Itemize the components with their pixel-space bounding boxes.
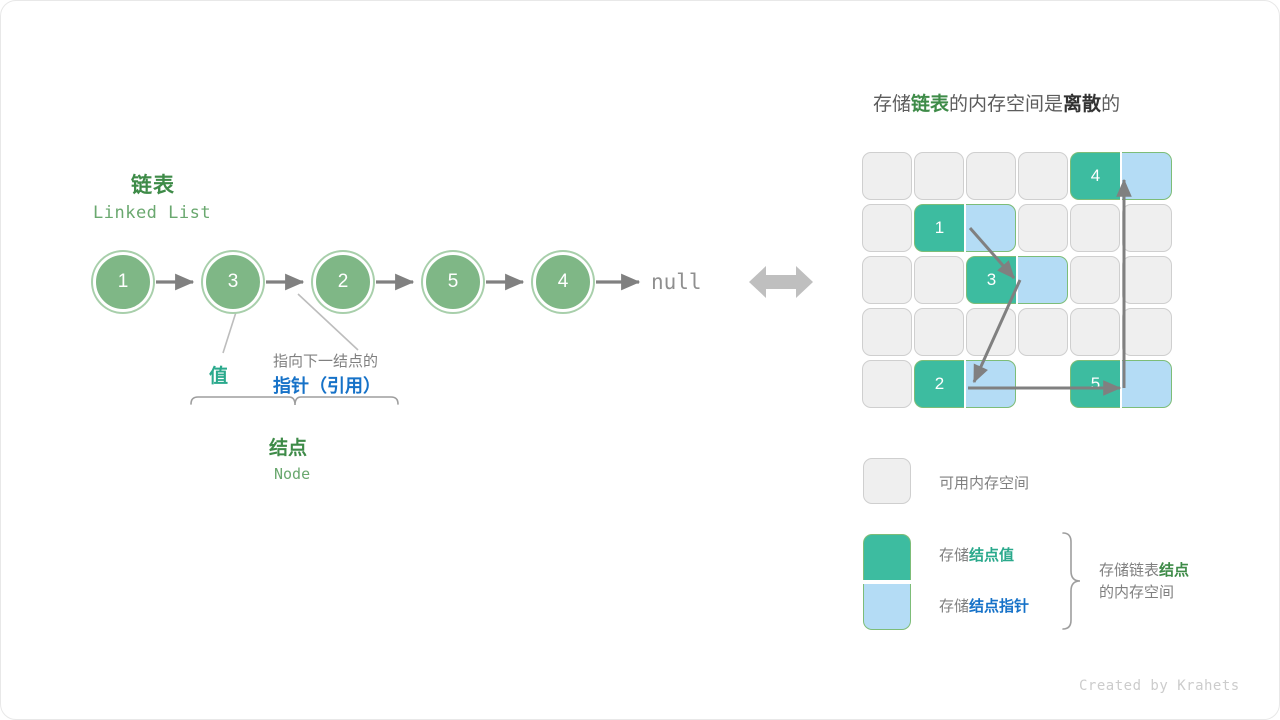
memory-grid: 4 1 3 2 5 (862, 152, 1176, 412)
list-node-1: 3 (203, 252, 263, 312)
pointer-annotation-line2: 指针（引用） (273, 372, 381, 398)
list-node-4-value: 4 (558, 271, 569, 293)
memory-title: 存储链表的内存空间是离散的 (873, 89, 1120, 116)
legend-value-swatch (863, 534, 911, 580)
legend-pointer-prefix: 存储 (939, 598, 969, 615)
legend-brace-line2: 的内存空间 (1099, 581, 1174, 602)
node-annotation-cn: 结点 (269, 433, 307, 460)
list-node-3: 5 (423, 252, 483, 312)
legend-brace-prefix: 存储链表 (1099, 562, 1159, 579)
legend-pointer-label: 存储结点指针 (939, 595, 1029, 616)
watermark: Created by Krahets (1079, 678, 1240, 694)
memory-title-highlight-discrete: 离散 (1063, 94, 1101, 115)
memory-title-part1: 存储 (873, 94, 911, 115)
legend-free-label: 可用内存空间 (939, 472, 1029, 493)
pointer-annotation-line1: 指向下一结点的 (273, 350, 378, 371)
list-node-2: 2 (313, 252, 373, 312)
legend-value-label: 存储结点值 (939, 544, 1014, 565)
memory-title-part3: 的 (1101, 94, 1120, 115)
list-node-0-value: 1 (118, 271, 129, 293)
memory-title-part2: 的内存空间是 (949, 94, 1063, 115)
node-annotation-en: Node (274, 465, 310, 483)
legend-brace-strong: 结点 (1159, 562, 1189, 579)
list-node-4: 4 (533, 252, 593, 312)
legend-pointer-swatch (863, 584, 911, 630)
legend-free-swatch (863, 458, 911, 504)
list-node-0: 1 (93, 252, 153, 312)
null-terminator: null (651, 270, 702, 294)
memory-title-highlight-linkedlist: 链表 (911, 94, 949, 115)
list-node-3-value: 5 (448, 271, 459, 293)
list-node-2-value: 2 (338, 271, 349, 293)
value-annotation-label: 值 (209, 361, 228, 388)
legend-brace (1059, 533, 1087, 629)
list-node-1-value: 3 (228, 271, 239, 293)
legend-value-strong: 结点值 (969, 547, 1014, 564)
legend-value-prefix: 存储 (939, 547, 969, 564)
memory-pointer-arrows (862, 152, 1176, 412)
legend-pointer-strong: 结点指针 (969, 598, 1029, 615)
bidirectional-arrow-icon (749, 263, 813, 301)
diagram-canvas: 链表 Linked List 1 3 2 5 4 null 值 指向下一结点的 … (0, 0, 1280, 720)
legend-brace-line1: 存储链表结点 (1099, 559, 1189, 580)
